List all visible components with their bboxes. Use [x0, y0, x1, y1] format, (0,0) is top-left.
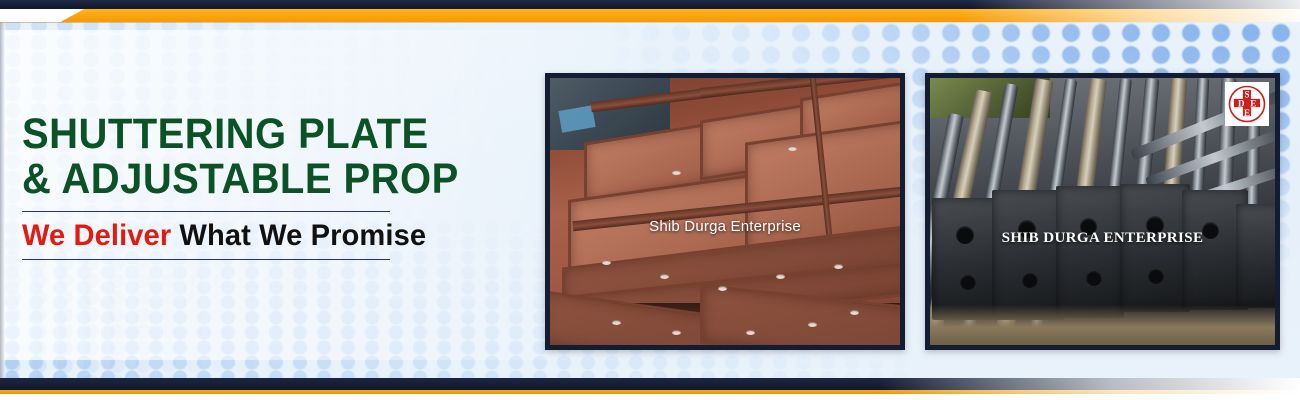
tagline-rest: What We Promise	[171, 219, 426, 252]
svg-text:E: E	[1250, 99, 1256, 109]
bottom-white-strip	[0, 394, 1300, 400]
tagline: We Deliver What We Promise	[22, 219, 526, 253]
headline-line-2: & ADJUSTABLE PROP	[22, 157, 506, 202]
divider-top	[22, 211, 390, 212]
top-navy-bar	[0, 0, 1300, 9]
left-edge-shade	[0, 0, 5, 400]
top-orange-bar	[0, 9, 1300, 22]
svg-text:S: S	[1244, 89, 1249, 99]
headline-line-1: SHUTTERING PLATE	[22, 110, 429, 158]
svg-text:E: E	[1244, 108, 1250, 118]
shuttering-plates-artwork	[550, 78, 900, 345]
sde-logo: S D E E	[1225, 82, 1269, 126]
bottom-navy-bar	[0, 378, 1300, 390]
shuttering-plates-photo: Shib Durga Enterprise	[545, 73, 905, 350]
tagline-highlight: We Deliver	[22, 219, 171, 252]
headline-block: SHUTTERING PLATE & ADJUSTABLE PROP We De…	[22, 112, 542, 260]
page-title: SHUTTERING PLATE & ADJUSTABLE PROP	[22, 112, 506, 202]
sde-logo-icon: S D E E	[1227, 84, 1267, 124]
ground-surface	[930, 305, 1275, 345]
promotional-banner: SHUTTERING PLATE & ADJUSTABLE PROP We De…	[0, 0, 1300, 400]
divider-bottom	[22, 259, 390, 260]
top-hairline	[0, 22, 1300, 23]
adjustable-props-photo: SHIB DURGA ENTERPRISE S D E E	[925, 73, 1280, 350]
adjustable-props-artwork	[930, 78, 1275, 345]
